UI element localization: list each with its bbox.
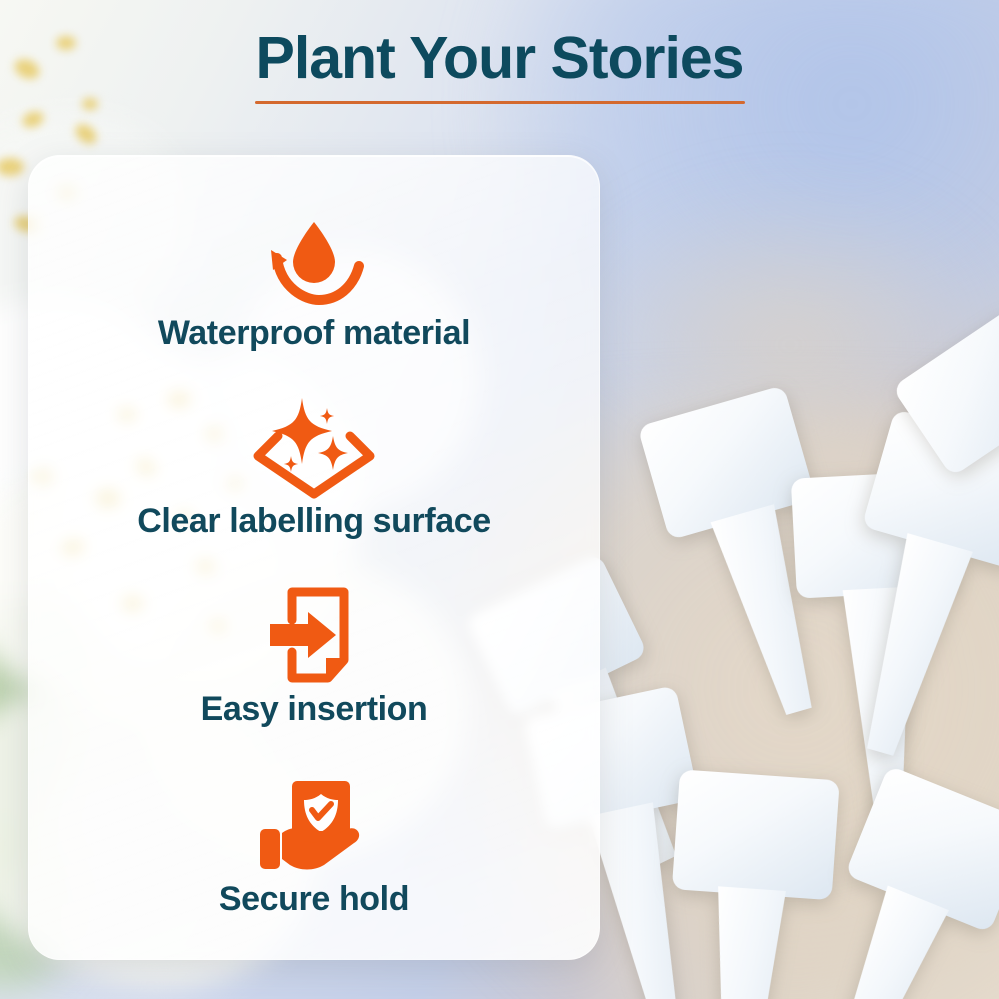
features-card: Waterproof material Clear labelling surf…: [28, 155, 600, 960]
title-divider-rule: [255, 101, 745, 104]
feature-label: Easy insertion: [29, 692, 599, 728]
feature-item-clear-surface: Clear labelling surface: [29, 396, 599, 540]
feature-item-easy-insertion: Easy insertion: [29, 584, 599, 728]
waterproof-droplet-icon: [29, 208, 599, 312]
feature-item-secure-hold: Secure hold: [29, 774, 599, 918]
insert-document-icon: [29, 584, 599, 688]
feature-label: Secure hold: [29, 882, 599, 918]
feature-label: Clear labelling surface: [29, 504, 599, 540]
marketing-image: Plant Your Stories Waterproof material: [0, 0, 999, 999]
sparkle-surface-icon: [29, 396, 599, 500]
hand-shield-icon: [29, 774, 599, 878]
feature-label: Waterproof material: [29, 316, 599, 352]
page-title: Plant Your Stories: [0, 24, 999, 92]
feature-item-waterproof: Waterproof material: [29, 208, 599, 352]
